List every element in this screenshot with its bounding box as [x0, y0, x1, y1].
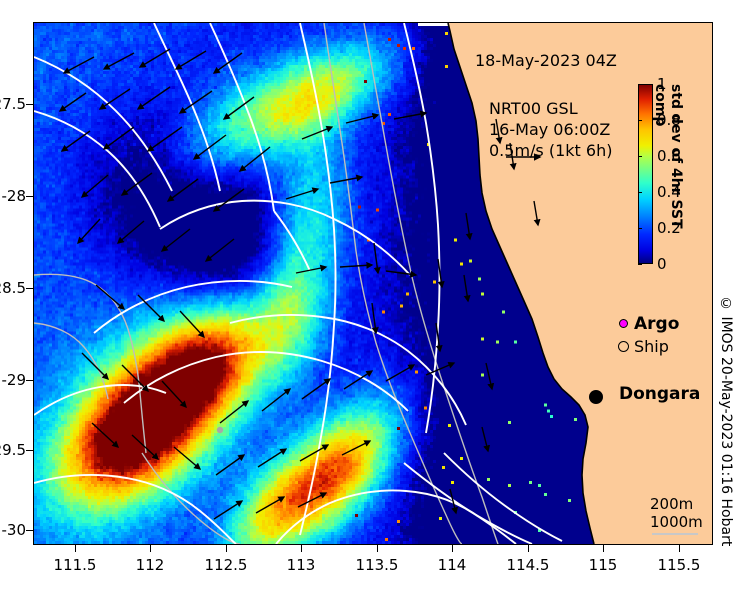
y-tick — [26, 450, 33, 451]
legend-item-argo[interactable]: Argo — [612, 312, 732, 335]
y-tick — [26, 380, 33, 381]
y-tick-label: -29 — [2, 371, 27, 389]
y-tick-label: -29.5 — [0, 441, 26, 459]
x-tick-label: 111.5 — [54, 556, 97, 574]
x-tick-label: 114 — [438, 556, 467, 574]
colorbar-tick — [638, 192, 642, 193]
x-tick — [603, 545, 604, 552]
colorbar-tick — [638, 264, 642, 265]
x-tick — [452, 545, 453, 552]
y-tick-label: -30 — [2, 521, 27, 539]
x-tick-label: 115.5 — [658, 556, 701, 574]
x-tick-label: 112 — [136, 556, 165, 574]
y-tick — [26, 530, 33, 531]
dongara-city-label: Dongara — [619, 384, 700, 404]
y-tick — [26, 288, 33, 289]
colorbar-title: std dev of 4hr SST comp — [664, 84, 684, 264]
legend-label-ship: Ship — [634, 337, 669, 356]
timestamp-annotation: 18-May-2023 04Z — [475, 51, 617, 70]
colorbar-tick — [638, 84, 642, 85]
reference-arrow-icon — [504, 151, 548, 163]
platform-legend: Argo Ship — [612, 312, 732, 358]
legend-item-ship[interactable]: Ship — [612, 335, 732, 358]
x-tick — [377, 545, 378, 552]
depth-contour-legend: 200m 1000m — [650, 495, 703, 531]
x-tick — [75, 545, 76, 552]
colorbar — [638, 84, 653, 264]
colorbar-tick — [638, 120, 642, 121]
y-tick-label: -28.5 — [0, 279, 26, 297]
depth-contour-sample-line — [652, 533, 698, 535]
copyright-text: © IMOS 20-May-2023 01:16 Hobart — [718, 296, 734, 546]
depth-label-1000m: 1000m — [650, 513, 703, 531]
x-tick-label: 115 — [589, 556, 618, 574]
colorbar-tick — [638, 228, 642, 229]
x-tick-label: 113.5 — [356, 556, 399, 574]
argo-marker-icon — [612, 319, 634, 328]
x-tick — [528, 545, 529, 552]
x-tick-label: 114.5 — [507, 556, 550, 574]
depth-label-200m: 200m — [650, 495, 703, 513]
x-tick-label: 112.5 — [205, 556, 248, 574]
legend-label-argo: Argo — [634, 314, 679, 334]
figure-canvas: 18-May-2023 04Z NRT00 GSL 16-May 06:00Z … — [0, 0, 740, 592]
x-tick — [679, 545, 680, 552]
y-tick-label: -27.5 — [0, 95, 26, 113]
glider-name: NRT00 GSL — [489, 99, 578, 118]
y-tick — [26, 104, 33, 105]
x-tick — [301, 545, 302, 552]
colorbar-tick — [638, 156, 642, 157]
x-tick — [226, 545, 227, 552]
x-tick-label: 113 — [287, 556, 316, 574]
y-tick-label: -28 — [2, 187, 27, 205]
glider-time: 16-May 06:00Z — [489, 120, 610, 139]
map-plot-area[interactable]: 18-May-2023 04Z NRT00 GSL 16-May 06:00Z … — [33, 22, 713, 545]
y-tick — [26, 196, 33, 197]
x-tick — [150, 545, 151, 552]
ship-marker-icon — [612, 341, 634, 352]
